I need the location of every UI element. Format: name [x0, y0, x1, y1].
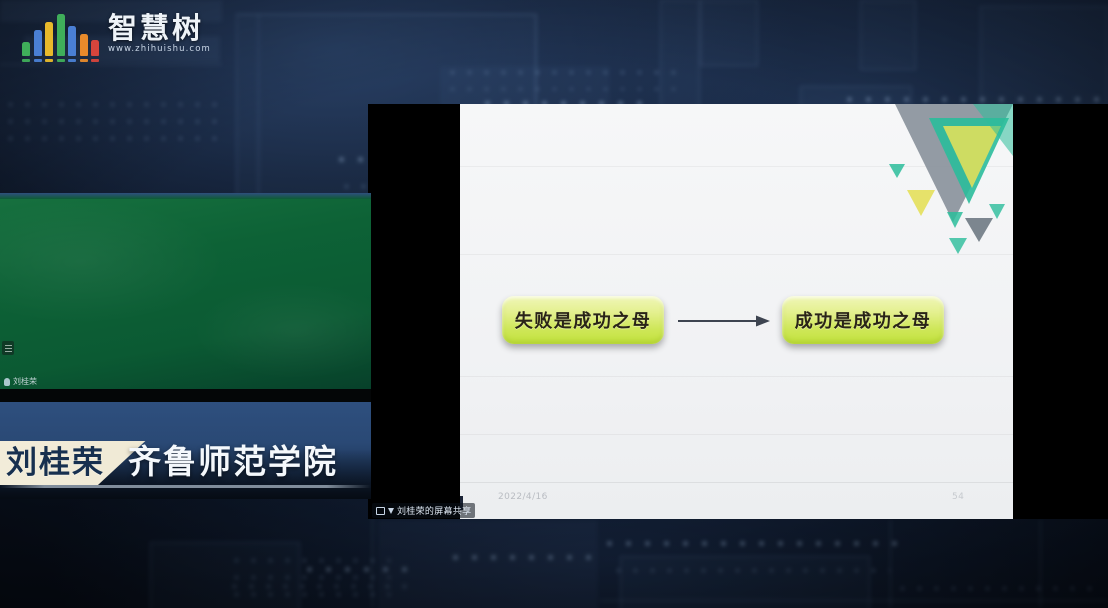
logo-bars-icon	[22, 14, 99, 56]
banner-organization: 齐鲁师范学院	[128, 443, 338, 481]
logo-name: 智慧树	[108, 14, 204, 43]
logo-bar-3	[45, 22, 53, 56]
logo-bar-7	[91, 40, 99, 56]
instructor-video[interactable]: 智慧树 ZHIHUISHU 大学课程 同步课堂	[0, 193, 371, 390]
right-arrow-icon	[678, 314, 770, 328]
video-backdrop	[0, 193, 371, 390]
video-speaker-name: 刘桂荣	[13, 376, 37, 387]
flow-box-right-text: 成功是成功之母	[795, 307, 932, 333]
speaker-name-banner: 刘桂荣 齐鲁师范学院	[0, 389, 371, 499]
logo-bar-2	[34, 30, 42, 56]
logo-url: www.zhihuishu.com	[108, 44, 211, 55]
flow-box-right: 成功是成功之母	[782, 296, 944, 344]
monitor-icon	[376, 507, 385, 515]
screen-share-caption: 刘桂荣的屏幕共享	[372, 503, 475, 518]
live-class-player: 智慧树 www.zhihuishu.com 智慧树 ZHIHUISHU 大学课程…	[0, 0, 1108, 608]
flow-box-left: 失败是成功之母	[502, 296, 664, 344]
slide-date: 2022/4/16	[498, 492, 548, 502]
logo-bar-5	[68, 26, 76, 56]
presentation-slide[interactable]: 失败是成功之母 成功是成功之母 2022/4/16 54	[460, 104, 1013, 519]
screen-share-label: 刘桂荣的屏幕共享	[397, 504, 471, 517]
download-arrow-icon	[388, 508, 394, 514]
logo-bar-1	[22, 42, 30, 56]
shared-screen-area[interactable]: 失败是成功之母 成功是成功之母 2022/4/16 54	[368, 104, 1108, 519]
banner-speaker-name: 刘桂荣	[6, 445, 105, 481]
video-top-edge	[0, 193, 371, 199]
microphone-icon	[4, 378, 10, 386]
logo-bar-6	[80, 34, 88, 56]
banner-underline	[0, 485, 371, 488]
more-menu-icon[interactable]	[2, 341, 14, 355]
slide-page-number: 54	[952, 492, 964, 502]
slide-decoration-triangles	[833, 104, 1013, 254]
zhihuishu-logo: 智慧树 www.zhihuishu.com	[22, 14, 211, 56]
video-speaker-label: 刘桂荣	[4, 376, 37, 387]
flow-box-left-text: 失败是成功之母	[515, 307, 652, 333]
logo-bar-4	[57, 14, 65, 56]
